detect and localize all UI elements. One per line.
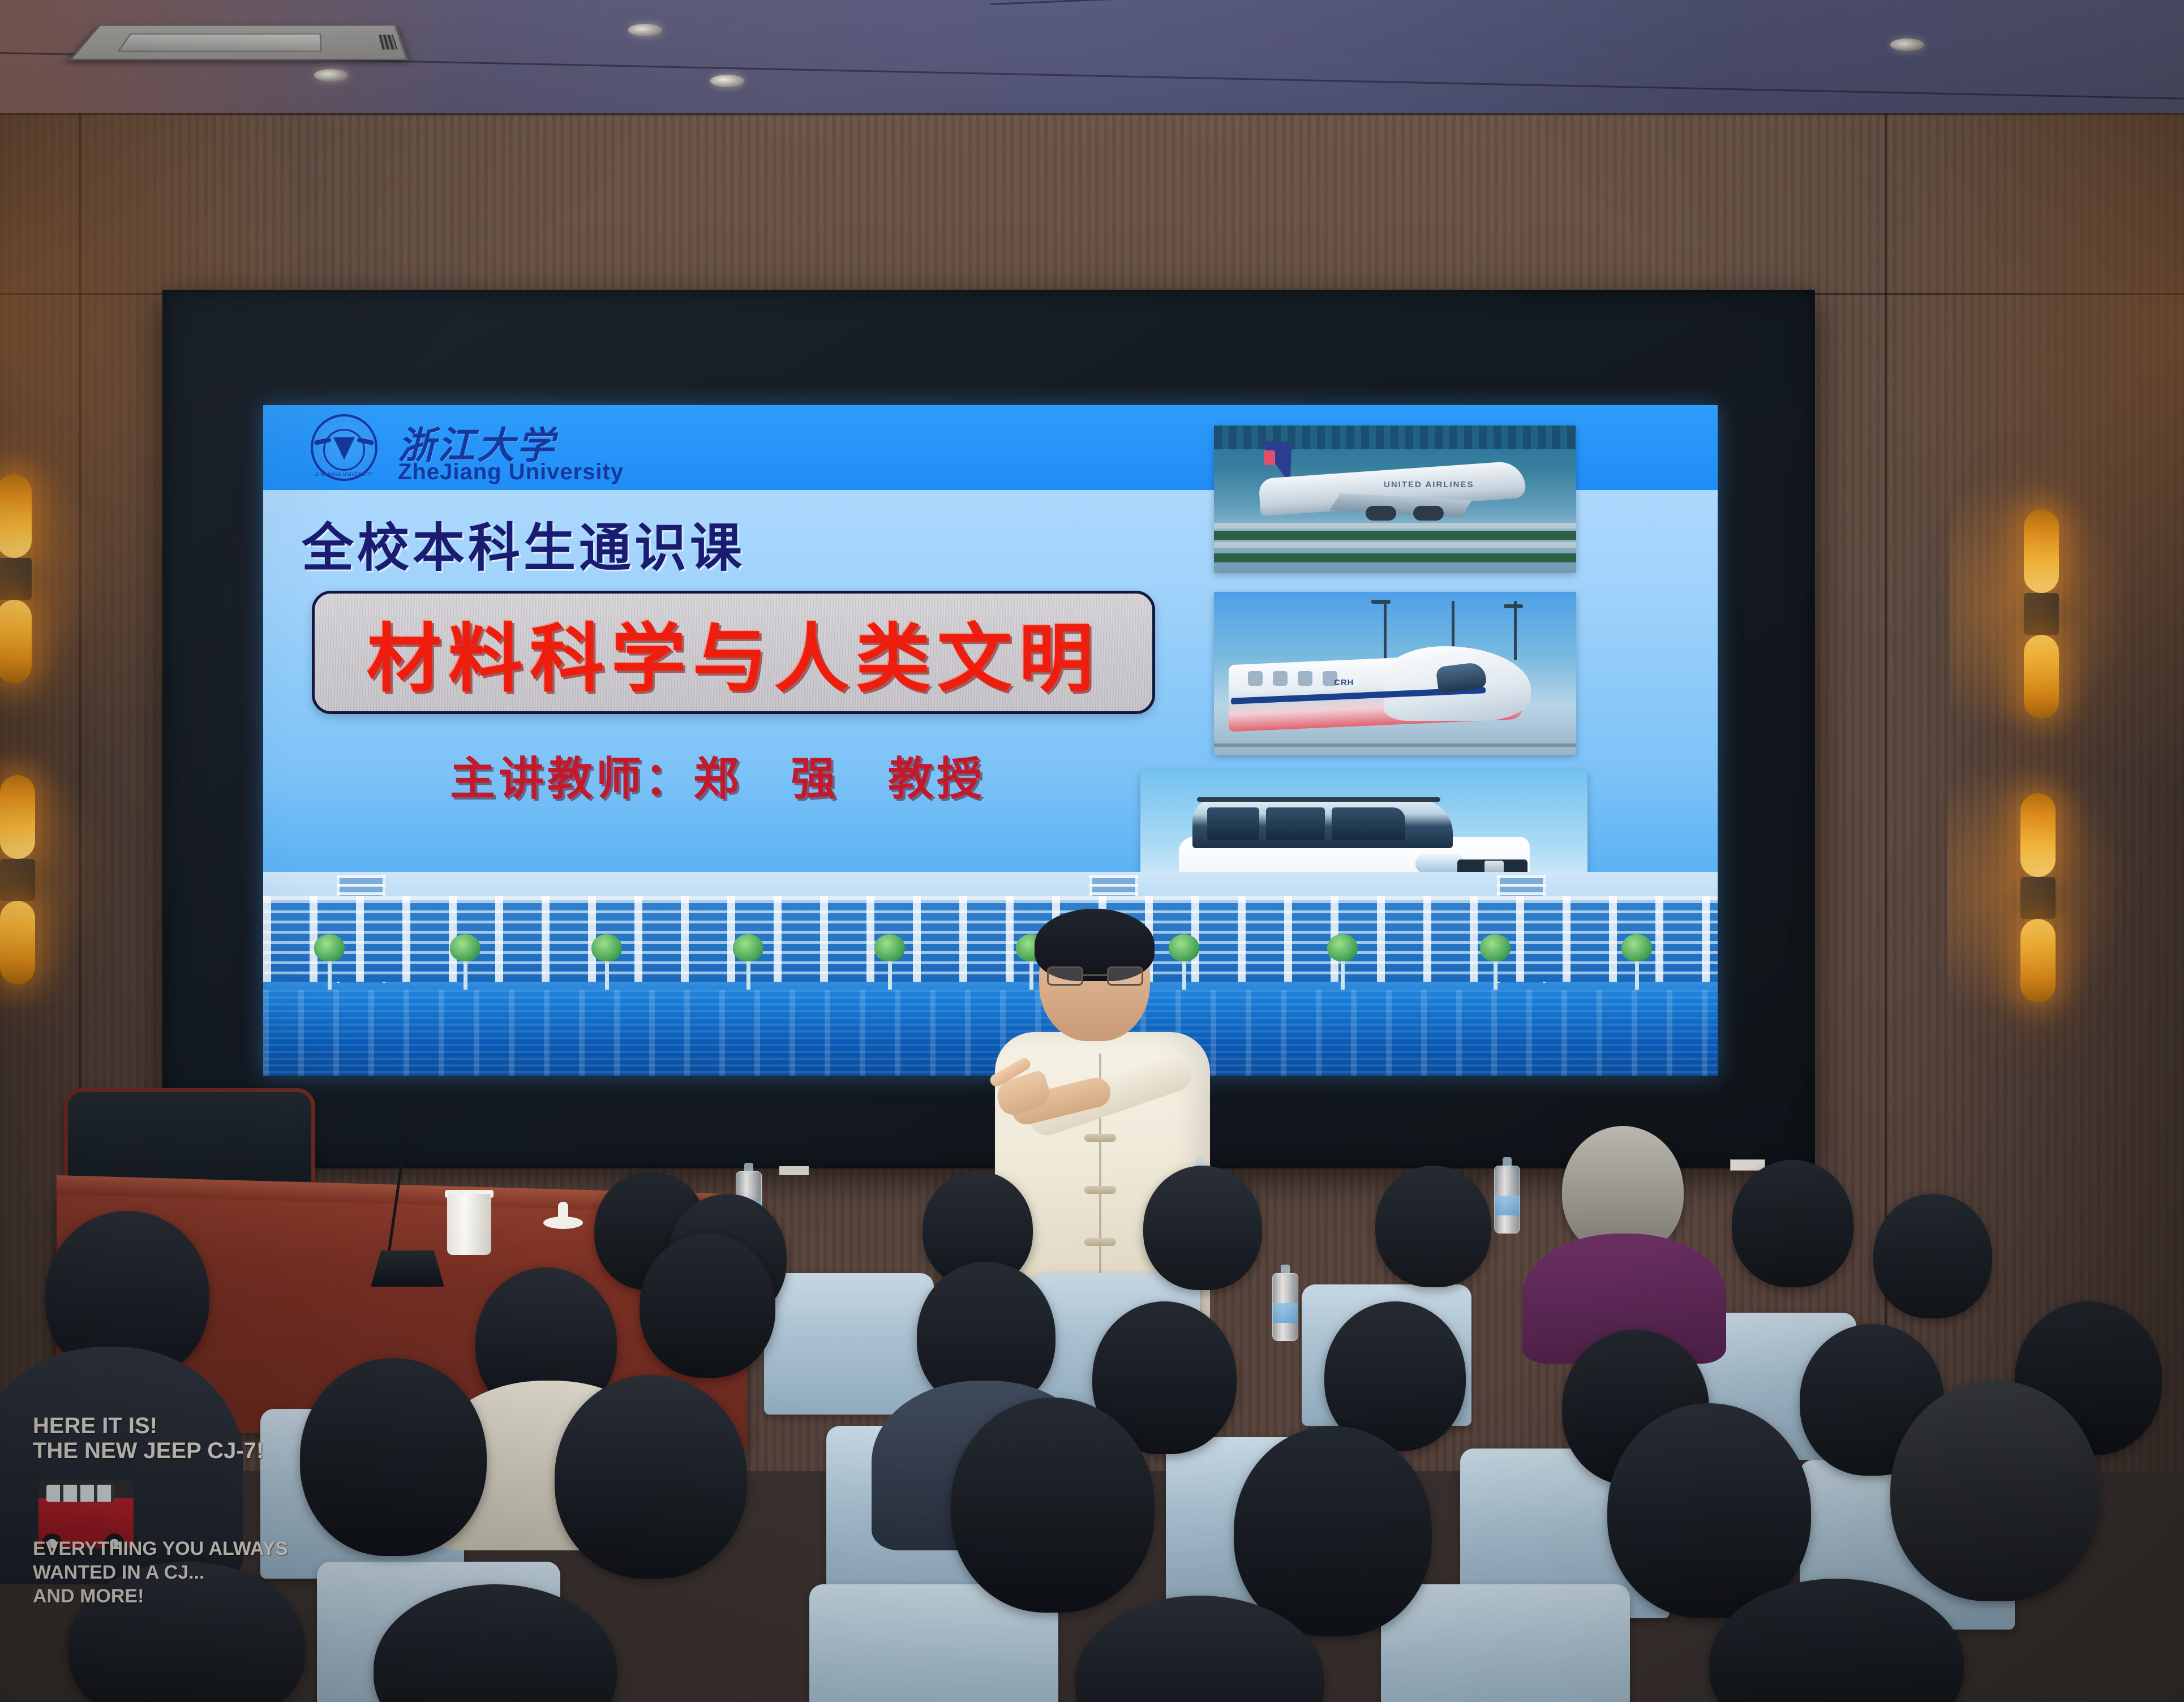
wall-sconce-left-lower xyxy=(0,775,35,985)
high-speed-train-photo: CRH xyxy=(1214,592,1576,755)
airplane-photo: UNITED AIRLINES xyxy=(1214,425,1576,573)
downlight-icon xyxy=(1890,38,1924,51)
train-model-text: CRH xyxy=(1334,678,1354,687)
slide-heading: 全校本科生通识课 xyxy=(302,506,745,581)
eyeglasses-icon xyxy=(1047,966,1143,986)
ceiling xyxy=(0,0,2184,120)
downlight-icon xyxy=(628,24,662,36)
downlight-icon xyxy=(314,69,348,81)
wall-sconce-left-upper xyxy=(0,474,32,684)
desk-device xyxy=(543,1217,583,1229)
lecture-hall-photo: ZHE JIANG UNIVERSITY 浙江大学 ZheJiang Unive… xyxy=(0,0,2184,1702)
audience-head xyxy=(1732,1160,1853,1287)
university-name-en: ZheJiang University xyxy=(398,459,624,485)
tshirt-line1: HERE IT IS! xyxy=(33,1413,157,1439)
ceiling-seam xyxy=(990,0,2184,5)
microphone-base xyxy=(371,1250,444,1287)
audience-head xyxy=(555,1375,747,1579)
audience-head xyxy=(1890,1381,2100,1601)
audience-head xyxy=(300,1358,487,1556)
wall-sconce-right-lower xyxy=(2020,793,2056,1003)
crest-arc-text: ZHE JIANG UNIVERSITY xyxy=(315,472,373,477)
screen-label-sticker xyxy=(779,1166,809,1175)
tea-cup xyxy=(447,1194,491,1255)
slide-subtitle: 主讲教师：郑 强 教授 xyxy=(450,742,985,808)
tshirt-line2: THE NEW JEEP CJ-7! xyxy=(33,1438,264,1464)
tshirt-line5: AND MORE! xyxy=(33,1585,144,1607)
downlight-icon xyxy=(710,75,744,87)
slide-title: 材料科学与人类文明 xyxy=(367,599,1100,707)
air-conditioner-icon xyxy=(68,25,408,61)
audience-head xyxy=(951,1398,1155,1613)
tshirt-line3: EVERYTHING YOU ALWAYS xyxy=(33,1538,288,1559)
audience-head xyxy=(1143,1166,1262,1290)
audience-head xyxy=(1873,1194,1992,1318)
audience-head xyxy=(1375,1166,1491,1287)
auditorium-seat[interactable] xyxy=(764,1273,934,1415)
water-bottle xyxy=(1272,1273,1298,1341)
slide-title-plate: 材料科学与人类文明 xyxy=(312,591,1155,714)
audience-head xyxy=(640,1233,775,1378)
tshirt-line4: WANTED IN A CJ... xyxy=(33,1562,205,1583)
wall-sconce-right-upper xyxy=(2024,509,2059,719)
zhejiang-university-crest-icon: ZHE JIANG UNIVERSITY xyxy=(311,414,377,481)
airplane-livery-text: UNITED AIRLINES xyxy=(1384,480,1474,489)
water-bottle xyxy=(1494,1166,1520,1233)
audience-head xyxy=(1234,1426,1432,1636)
auditorium-seat[interactable] xyxy=(1381,1584,1630,1702)
audience-head xyxy=(1607,1403,1811,1618)
